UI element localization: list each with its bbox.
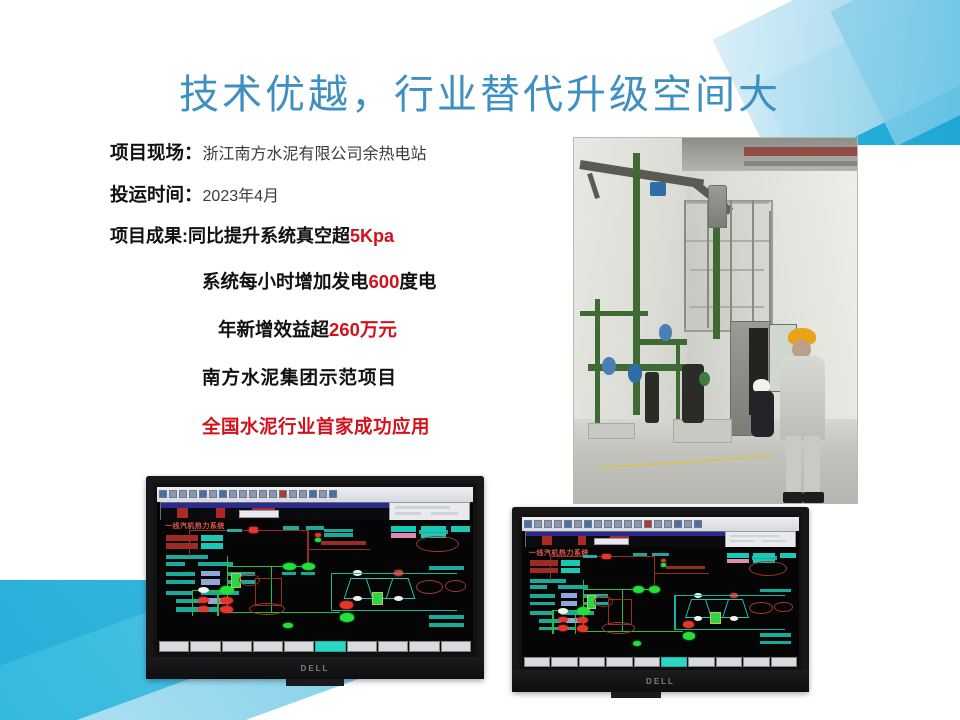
monitor-1-chin: DELL bbox=[146, 657, 484, 679]
photo-frame-post-1 bbox=[684, 200, 686, 328]
hmi2-tab-7[interactable] bbox=[688, 657, 714, 668]
monitor-2-screen[interactable]: 一线汽机热力系统 bbox=[522, 517, 799, 668]
toolbar2-settings-icon[interactable] bbox=[674, 520, 682, 528]
toolbar-trend-icon[interactable] bbox=[229, 490, 237, 498]
pump2-indicator-6[interactable] bbox=[683, 621, 694, 628]
param2-input-1[interactable] bbox=[561, 593, 578, 598]
steam-line-v2 bbox=[307, 530, 309, 563]
slide-root: 技术优越，行业替代升级空间大 项目现场：浙江南方水泥有限公司余热电站 投运时间：… bbox=[0, 0, 960, 720]
cooling2-return-label-1 bbox=[760, 633, 790, 637]
toolbar-save-icon[interactable] bbox=[169, 490, 177, 498]
heater-vessel bbox=[239, 574, 260, 586]
hmi-status-panel-2[interactable] bbox=[725, 531, 796, 548]
alarm-filter-field[interactable] bbox=[239, 510, 280, 518]
toolbar-pointer-icon[interactable] bbox=[299, 490, 307, 498]
result-lead-text: 同比提升系统真空超 bbox=[188, 226, 350, 246]
status-logout-button[interactable] bbox=[431, 512, 458, 515]
cooling2-pump-symbol bbox=[749, 602, 773, 615]
toolbar-logo-icon[interactable] bbox=[329, 490, 337, 498]
detail-label-site: 项目现场： bbox=[110, 142, 203, 163]
pump-indicator-1[interactable] bbox=[283, 563, 296, 570]
param-value-2 bbox=[201, 543, 223, 549]
toolbar-stop-icon[interactable] bbox=[279, 490, 287, 498]
param-label-11 bbox=[176, 607, 217, 611]
monitor-2-stand bbox=[611, 692, 661, 698]
toolbar-zoom-icon[interactable] bbox=[289, 490, 297, 498]
mode-button-3[interactable] bbox=[451, 526, 470, 531]
pump-indicator-2[interactable] bbox=[302, 563, 315, 570]
toolbar2-save-icon[interactable] bbox=[534, 520, 542, 528]
steam-valve-1[interactable] bbox=[249, 527, 258, 532]
pump2-indicator-1[interactable] bbox=[633, 586, 644, 593]
toolbar2-stop-icon[interactable] bbox=[644, 520, 652, 528]
steam-temp-label bbox=[283, 526, 299, 530]
toolbar-chart-icon[interactable] bbox=[209, 490, 217, 498]
photo-pump-base bbox=[673, 419, 732, 443]
toolbar-alarm-list-icon[interactable] bbox=[239, 490, 247, 498]
toolbar-print-icon[interactable] bbox=[179, 490, 187, 498]
hmi2-tab-4[interactable] bbox=[606, 657, 632, 668]
param2-box-1 bbox=[530, 560, 558, 565]
photo-worker2-body bbox=[751, 391, 774, 438]
toolbar2-forward-icon[interactable] bbox=[634, 520, 642, 528]
cooling-return-label-1 bbox=[429, 615, 464, 619]
water-line-h2 bbox=[227, 612, 341, 613]
pump-indicator-8[interactable] bbox=[283, 623, 292, 628]
toolbar2-logo-icon[interactable] bbox=[694, 520, 702, 528]
mode-button-4[interactable] bbox=[391, 533, 416, 538]
generator2-label bbox=[752, 556, 777, 560]
toolbar2-alarm-list-icon[interactable] bbox=[604, 520, 612, 528]
photo-worker-shoe-right bbox=[803, 492, 823, 503]
photo-frame-post-4 bbox=[752, 200, 754, 328]
alarm-text-1 bbox=[177, 508, 188, 518]
monitor-1: 一线汽机热力系统 bbox=[146, 476, 484, 679]
param2-label-3 bbox=[530, 585, 547, 589]
toolbar2-help-icon[interactable] bbox=[684, 520, 692, 528]
steam2-line-v1 bbox=[550, 556, 551, 580]
hmi-tab-6-selected[interactable] bbox=[315, 641, 345, 653]
result-benefit-highlight: 260万元 bbox=[329, 319, 397, 340]
hmi-tab-bar-1[interactable] bbox=[157, 640, 473, 653]
param-input-2[interactable] bbox=[201, 579, 220, 584]
cond2-valve-4[interactable] bbox=[730, 616, 738, 621]
toolbar2-pointer-icon[interactable] bbox=[664, 520, 672, 528]
result-benefit-text: 年新增效益超 bbox=[218, 319, 329, 340]
param-value-1 bbox=[201, 535, 223, 541]
valve2-indicator-2[interactable] bbox=[558, 617, 568, 622]
turbine-param-1 bbox=[324, 533, 352, 537]
param2-input-2[interactable] bbox=[561, 601, 578, 606]
result-row-lead: 项目成果:同比提升系统真空超5Kpa bbox=[110, 227, 560, 245]
param2-label-5 bbox=[530, 594, 555, 598]
hmi-screen-1[interactable]: 一线汽机热力系统 bbox=[157, 487, 473, 653]
monitor-1-brand-logo: DELL bbox=[301, 664, 330, 673]
heater2-vessel bbox=[594, 596, 613, 607]
hmi-diagram-title-2: 一线汽机热力系统 bbox=[529, 548, 589, 558]
water2-line-v3 bbox=[552, 610, 553, 634]
photo-pump-2 bbox=[645, 372, 659, 423]
cooling2-line-v bbox=[674, 595, 675, 630]
cond2-valve-3[interactable] bbox=[694, 616, 702, 621]
photo-worker-body bbox=[780, 356, 825, 440]
toolbar2-chart-icon[interactable] bbox=[574, 520, 582, 528]
toolbar2-open-icon[interactable] bbox=[524, 520, 532, 528]
detail-row-date: 投运时间：2023年4月 bbox=[110, 186, 560, 205]
hmi-tab-bar-2[interactable] bbox=[522, 656, 799, 668]
cond-valve-3[interactable] bbox=[353, 596, 362, 601]
turbine-label bbox=[321, 541, 365, 545]
steam2-temp-label bbox=[633, 553, 647, 556]
result-row-power: 系统每小时增加发电600度电 bbox=[202, 273, 560, 292]
hmi-tab-9[interactable] bbox=[409, 641, 439, 653]
cooling-line-v bbox=[331, 573, 333, 611]
param2-label-7 bbox=[530, 602, 555, 606]
param-group-label-2 bbox=[166, 591, 191, 595]
detail-label-date: 投运时间： bbox=[110, 184, 203, 205]
photo-red-beam bbox=[744, 147, 857, 156]
param2-group-label-1 bbox=[530, 579, 566, 583]
hmi-alarm-banner-2[interactable] bbox=[525, 531, 726, 548]
toolbar2-print-icon[interactable] bbox=[544, 520, 552, 528]
hmi2-tab-5[interactable] bbox=[634, 657, 660, 668]
water-line-v4 bbox=[217, 590, 219, 616]
hmi2-tab-8[interactable] bbox=[716, 657, 742, 668]
level-gauge-2 bbox=[372, 592, 383, 605]
pump-indicator-4[interactable] bbox=[220, 597, 233, 604]
result-row-benefit: 年新增效益超260万元 bbox=[218, 321, 560, 340]
cooling-tower-label bbox=[429, 566, 464, 570]
valve-indicator-2[interactable] bbox=[198, 597, 209, 603]
photo-platform-rail-mid bbox=[684, 240, 769, 242]
param-label-3 bbox=[166, 562, 185, 566]
status-user-button[interactable] bbox=[395, 512, 422, 515]
hmi-tab-1[interactable] bbox=[159, 641, 189, 653]
detail-row-site: 项目现场：浙江南方水泥有限公司余热电站 bbox=[110, 144, 560, 163]
cooling-pump-symbol bbox=[416, 580, 443, 594]
monitor-2: 一线汽机热力系统 bbox=[512, 507, 809, 692]
pump-label-1 bbox=[282, 572, 296, 576]
valve2-indicator-1[interactable] bbox=[558, 608, 568, 613]
cooling-line-h2 bbox=[331, 610, 457, 611]
steam2-line-h2 bbox=[654, 573, 709, 574]
page-title: 技术优越，行业替代升级空间大 bbox=[0, 62, 960, 120]
mode2-button-3[interactable] bbox=[780, 553, 797, 558]
toolbar2-grid-icon[interactable] bbox=[564, 520, 572, 528]
toolbar-table-icon[interactable] bbox=[219, 490, 227, 498]
alarm2-text-2 bbox=[578, 536, 586, 545]
photo-valve-4 bbox=[650, 182, 666, 197]
param-box-1 bbox=[166, 535, 198, 541]
toolbar-forward-icon[interactable] bbox=[269, 490, 277, 498]
toolbar2-zoom-icon[interactable] bbox=[654, 520, 662, 528]
water-line-v3 bbox=[192, 590, 194, 616]
cooling2-fan-symbol bbox=[774, 602, 793, 613]
photo-worker-shoe-left bbox=[783, 492, 803, 503]
cooling-fan-symbol bbox=[445, 580, 466, 592]
hmi2-tab-1[interactable] bbox=[524, 657, 550, 668]
status2-datetime bbox=[730, 535, 778, 537]
steam2-inlet-indicator[interactable] bbox=[661, 559, 667, 562]
steam-inlet-indicator[interactable] bbox=[315, 533, 321, 537]
monitor-2-chin: DELL bbox=[512, 670, 809, 692]
hmi-status-panel-1[interactable] bbox=[389, 502, 470, 521]
result-power-highlight: 600 bbox=[369, 271, 400, 292]
toolbar-report-icon[interactable] bbox=[249, 490, 257, 498]
pump-indicator-7[interactable] bbox=[340, 613, 354, 621]
result-row-firstapp: 全国水泥行业首家成功应用 bbox=[202, 418, 560, 437]
toolbar-help-icon[interactable] bbox=[319, 490, 327, 498]
plant-site-photo bbox=[573, 137, 858, 504]
hmi-diagram-1[interactable]: 一线汽机热力系统 bbox=[157, 520, 473, 640]
pump-indicator-6[interactable] bbox=[340, 601, 353, 608]
water2-line-v4 bbox=[575, 610, 576, 634]
cond-valve-4[interactable] bbox=[394, 596, 403, 601]
status2-logout-button[interactable] bbox=[762, 540, 786, 542]
hmi2-tab-10[interactable] bbox=[771, 657, 797, 668]
alarm-text-2 bbox=[216, 508, 225, 518]
param2-value-2 bbox=[561, 568, 580, 573]
result-lead-label: 项目成果: bbox=[110, 226, 188, 246]
hmi-tab-8[interactable] bbox=[378, 641, 408, 653]
toolbar2-copy-icon[interactable] bbox=[554, 520, 562, 528]
hmi-tab-10[interactable] bbox=[441, 641, 471, 653]
pump2-indicator-4[interactable] bbox=[577, 617, 588, 624]
turbine-param-2 bbox=[324, 529, 352, 533]
photo-ejector-head bbox=[708, 185, 727, 227]
detail-value-site: 浙江南方水泥有限公司余热电站 bbox=[203, 146, 427, 163]
pump2-indicator-7[interactable] bbox=[683, 632, 695, 640]
photo-frame-post-3 bbox=[730, 200, 732, 328]
condenser-hotwell bbox=[249, 603, 286, 616]
cooling2-line-h1 bbox=[674, 595, 785, 596]
cooling2-tower-label bbox=[760, 589, 790, 593]
content-block: 项目现场：浙江南方水泥有限公司余热电站 投运时间：2023年4月 项目成果:同比… bbox=[110, 138, 560, 436]
pump2-indicator-8[interactable] bbox=[633, 641, 641, 646]
generator-symbol bbox=[416, 536, 459, 552]
photo-worker-crouching bbox=[749, 379, 777, 437]
generator-label bbox=[419, 530, 447, 534]
photo-worker-leg-left bbox=[786, 436, 802, 496]
hmi2-tab-3[interactable] bbox=[579, 657, 605, 668]
hmi2-tab-9[interactable] bbox=[743, 657, 769, 668]
param2-group-label-2 bbox=[530, 611, 552, 615]
hmi-tab-2[interactable] bbox=[190, 641, 220, 653]
detail-value-date: 2023年4月 bbox=[203, 188, 280, 205]
photo-frame-post-5 bbox=[769, 211, 771, 328]
mode-button-1[interactable] bbox=[391, 526, 416, 531]
turbine2-label bbox=[666, 566, 705, 570]
status-datetime bbox=[395, 506, 450, 509]
steam-press-label bbox=[306, 526, 325, 530]
generator2-symbol bbox=[749, 561, 787, 576]
cooling-line-h1 bbox=[331, 573, 457, 574]
pump2-indicator-2[interactable] bbox=[649, 586, 660, 593]
monitor-1-screen[interactable]: 一线汽机热力系统 bbox=[157, 487, 473, 653]
result-power-text: 系统每小时增加发电 bbox=[202, 271, 369, 292]
monitor-2-brand-logo: DELL bbox=[646, 677, 675, 686]
cooling2-return-label-2 bbox=[760, 641, 790, 645]
photo-green-drop bbox=[676, 339, 681, 419]
toolbar-copy-icon[interactable] bbox=[189, 490, 197, 498]
steam2-exhaust-indicator[interactable] bbox=[661, 563, 667, 566]
hmi2-tab-6-selected[interactable] bbox=[661, 657, 687, 668]
param2-box-2 bbox=[530, 568, 558, 573]
steam-line-h2 bbox=[307, 549, 370, 550]
photo-pump-base-2 bbox=[588, 423, 635, 440]
condenser2-hotwell bbox=[602, 622, 634, 634]
alarm2-filter-field[interactable] bbox=[594, 538, 630, 545]
hmi-tab-4[interactable] bbox=[253, 641, 283, 653]
photo-grey-beam bbox=[744, 161, 857, 167]
steam-flow-label bbox=[227, 529, 243, 533]
toolbar2-table-icon[interactable] bbox=[584, 520, 592, 528]
white-hard-hat-icon bbox=[753, 379, 769, 392]
photo-worker-leg-right bbox=[804, 436, 820, 496]
mode2-button-4[interactable] bbox=[727, 559, 749, 564]
toolbar-open-icon[interactable] bbox=[159, 490, 167, 498]
steam2-valve-1[interactable] bbox=[602, 554, 610, 559]
toolbar-back-icon[interactable] bbox=[259, 490, 267, 498]
cooling2-line-h2 bbox=[674, 629, 785, 630]
param2-label-11 bbox=[539, 627, 575, 631]
mode2-button-1[interactable] bbox=[727, 553, 749, 558]
result-lead-highlight: 5Kpa bbox=[350, 226, 394, 246]
level2-gauge-2 bbox=[710, 612, 720, 624]
hmi-tab-7[interactable] bbox=[347, 641, 377, 653]
cooling-return-label-2 bbox=[429, 623, 464, 627]
photo-valve-5 bbox=[699, 372, 710, 387]
hmi-toolbar-1[interactable] bbox=[157, 487, 473, 502]
hmi-toolbar-2[interactable] bbox=[522, 517, 799, 531]
steam-line-v1 bbox=[189, 530, 191, 556]
alarm2-text-1 bbox=[542, 536, 552, 545]
param2-value-1 bbox=[561, 560, 580, 565]
hmi-diagram-2[interactable]: 一线汽机热力系统 bbox=[522, 547, 799, 656]
photo-green-header bbox=[580, 311, 648, 316]
hmi-tab-3[interactable] bbox=[222, 641, 252, 653]
toolbar2-trend-icon[interactable] bbox=[594, 520, 602, 528]
steam-exhaust-indicator[interactable] bbox=[315, 538, 321, 542]
alarm-titlebar bbox=[161, 503, 389, 508]
steam2-flow-label bbox=[583, 555, 597, 558]
status2-user-button[interactable] bbox=[730, 540, 754, 542]
toolbar-settings-icon[interactable] bbox=[309, 490, 317, 498]
param-input-1[interactable] bbox=[201, 571, 220, 576]
valve2-indicator-3[interactable] bbox=[558, 625, 568, 630]
toolbar2-back-icon[interactable] bbox=[624, 520, 632, 528]
param-box-2 bbox=[166, 543, 198, 549]
param-label-7 bbox=[166, 580, 194, 584]
hmi-screen-2[interactable]: 一线汽机热力系统 bbox=[522, 517, 799, 668]
hmi-tab-5[interactable] bbox=[284, 641, 314, 653]
result-row-demo: 南方水泥集团示范项目 bbox=[202, 369, 560, 388]
param-group-label-1 bbox=[166, 555, 207, 559]
pump-label-2 bbox=[301, 572, 315, 576]
photo-worker-foreground bbox=[772, 328, 840, 503]
toolbar2-report-icon[interactable] bbox=[614, 520, 622, 528]
param-label-5 bbox=[166, 572, 194, 576]
hmi2-tab-2[interactable] bbox=[551, 657, 577, 668]
photo-valve-3 bbox=[659, 324, 672, 340]
result-power-tail: 度电 bbox=[399, 271, 436, 292]
photo-valve-2 bbox=[628, 364, 642, 382]
monitor-1-stand bbox=[286, 679, 344, 686]
steam2-line-v2 bbox=[654, 556, 655, 586]
hmi-alarm-banner-1[interactable] bbox=[160, 502, 390, 521]
toolbar-grid-icon[interactable] bbox=[199, 490, 207, 498]
steam2-press-label bbox=[652, 553, 669, 556]
